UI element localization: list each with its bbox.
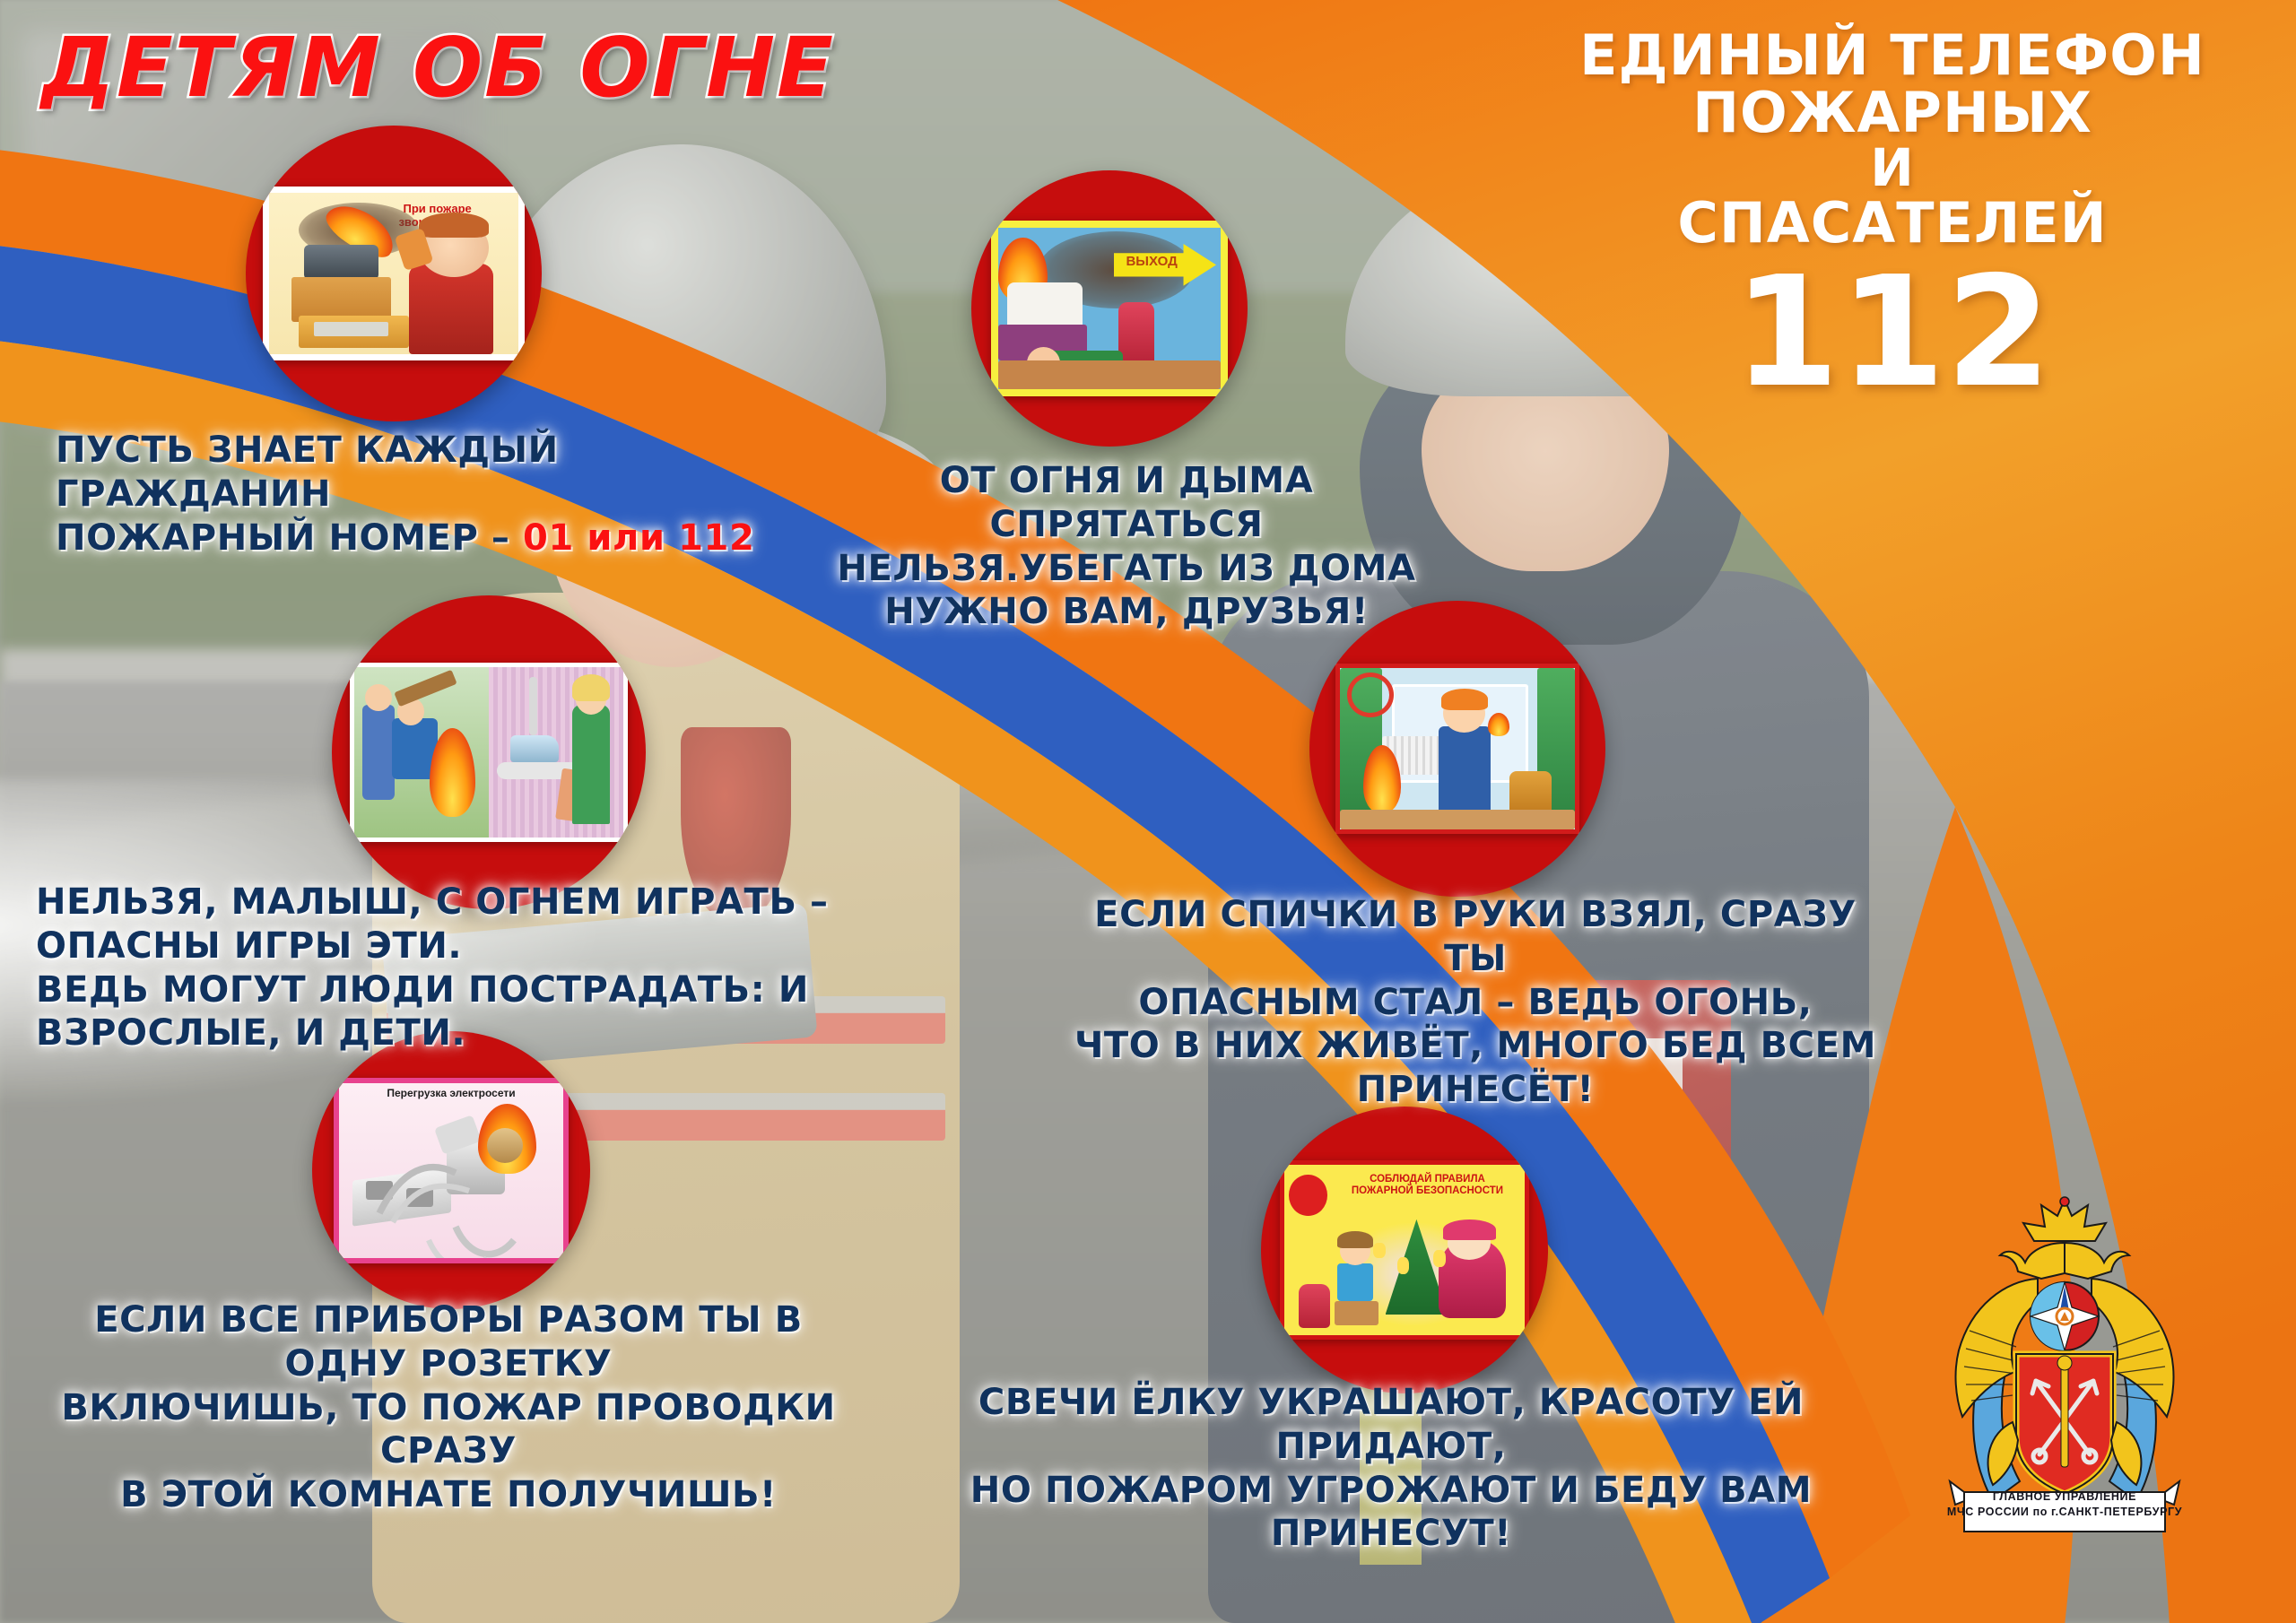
verse-socket: ЕСЛИ ВСЕ ПРИБОРЫ РАЗОМ ТЫ В ОДНУ РОЗЕТКУ… (36, 1298, 861, 1517)
badge-bonfire-iron-card (350, 663, 628, 842)
verse-call-number-highlight: 01 или 112 (523, 517, 754, 559)
badge-newyear-caption: СОБЛЮДАЙ ПРАВИЛА ПОЖАРНОЙ БЕЗОПАСНОСТИ (1337, 1174, 1518, 1197)
phone-panel-line3: И (1552, 142, 2233, 195)
emergency-phone-panel: ЕДИНЫЙ ТЕЛЕФОН ПОЖАРНЫХ И СПАСАТЕЛЕЙ 112 (1552, 27, 2233, 406)
badge-matches-card (1335, 664, 1579, 834)
badge-newyear: СОБЛЮДАЙ ПРАВИЛА ПОЖАРНОЙ БЕЗОПАСНОСТИ (1261, 1107, 1548, 1393)
badge-phone-01: При пожаре звонить - 01 ! (246, 126, 542, 421)
emergency-phone-number: 112 (1552, 261, 2233, 406)
badge-phone-01-card: При пожаре звонить - 01 ! (263, 187, 525, 360)
page-title: ДЕТЯМ ОБ ОГНЕ (41, 20, 835, 116)
fire-safety-poster: ДЕТЯМ ОБ ОГНЕ ЕДИНЫЙ ТЕЛЕФОН ПОЖАРНЫХ И … (0, 0, 2296, 1623)
verse-dont-play: НЕЛЬЗЯ, МАЛЫШ, С ОГНЕМ ИГРАТЬ – ОПАСНЫ И… (36, 881, 1013, 1055)
phone-panel-line1: ЕДИНЫЙ ТЕЛЕФОН (1552, 27, 2233, 84)
emblem-ribbon-text: ГЛАВНОЕ УПРАВЛЕНИЕ МЧС РОССИИ по г.САНКТ… (1946, 1489, 2183, 1520)
verse-candles: СВЕЧИ ЁЛКУ УКРАШАЮТ, КРАСОТУ ЕЙ ПРИДАЮТ,… (956, 1381, 1826, 1556)
badge-newyear-card: СОБЛЮДАЙ ПРАВИЛА ПОЖАРНОЙ БЕЗОПАСНОСТИ (1280, 1160, 1529, 1340)
emblem-ribbon-line2: МЧС РОССИИ по г.САНКТ-ПЕТЕРБУРГУ (1946, 1505, 2183, 1520)
verse-dont-hide: ОТ ОГНЯ И ДЫМА СПРЯТАТЬСЯ НЕЛЬЗЯ.УБЕГАТЬ… (831, 459, 1422, 634)
badge-overload-card: Перегрузка электросети (334, 1078, 569, 1263)
badge-exit-card: ВЫХОД (991, 221, 1228, 396)
verse-call-number-text: ПУСТЬ ЗНАЕТ КАЖДЫЙ ГРАЖДАНИН ПОЖАРНЫЙ НО… (56, 430, 559, 559)
badge-overload: Перегрузка электросети (312, 1031, 590, 1309)
badge-exit-caption: ВЫХОД (1114, 254, 1189, 269)
badge-bonfire-iron (332, 595, 646, 909)
emercom-emblem: ГЛАВНОЕ УПРАВЛЕНИЕ МЧС РОССИИ по г.САНКТ… (1930, 1196, 2199, 1546)
badge-exit: ВЫХОД (971, 170, 1248, 447)
phone-panel-line2: ПОЖАРНЫХ (1552, 84, 2233, 142)
emblem-ribbon-line1: ГЛАВНОЕ УПРАВЛЕНИЕ (1946, 1489, 2183, 1505)
badge-matches (1309, 601, 1605, 897)
verse-call-number: ПУСТЬ ЗНАЕТ КАЖДЫЙ ГРАЖДАНИН ПОЖАРНЫЙ НО… (56, 429, 773, 560)
verse-matches: ЕСЛИ СПИЧКИ В РУКИ ВЗЯЛ, СРАЗУ ТЫ ОПАСНЫ… (1067, 893, 1883, 1112)
